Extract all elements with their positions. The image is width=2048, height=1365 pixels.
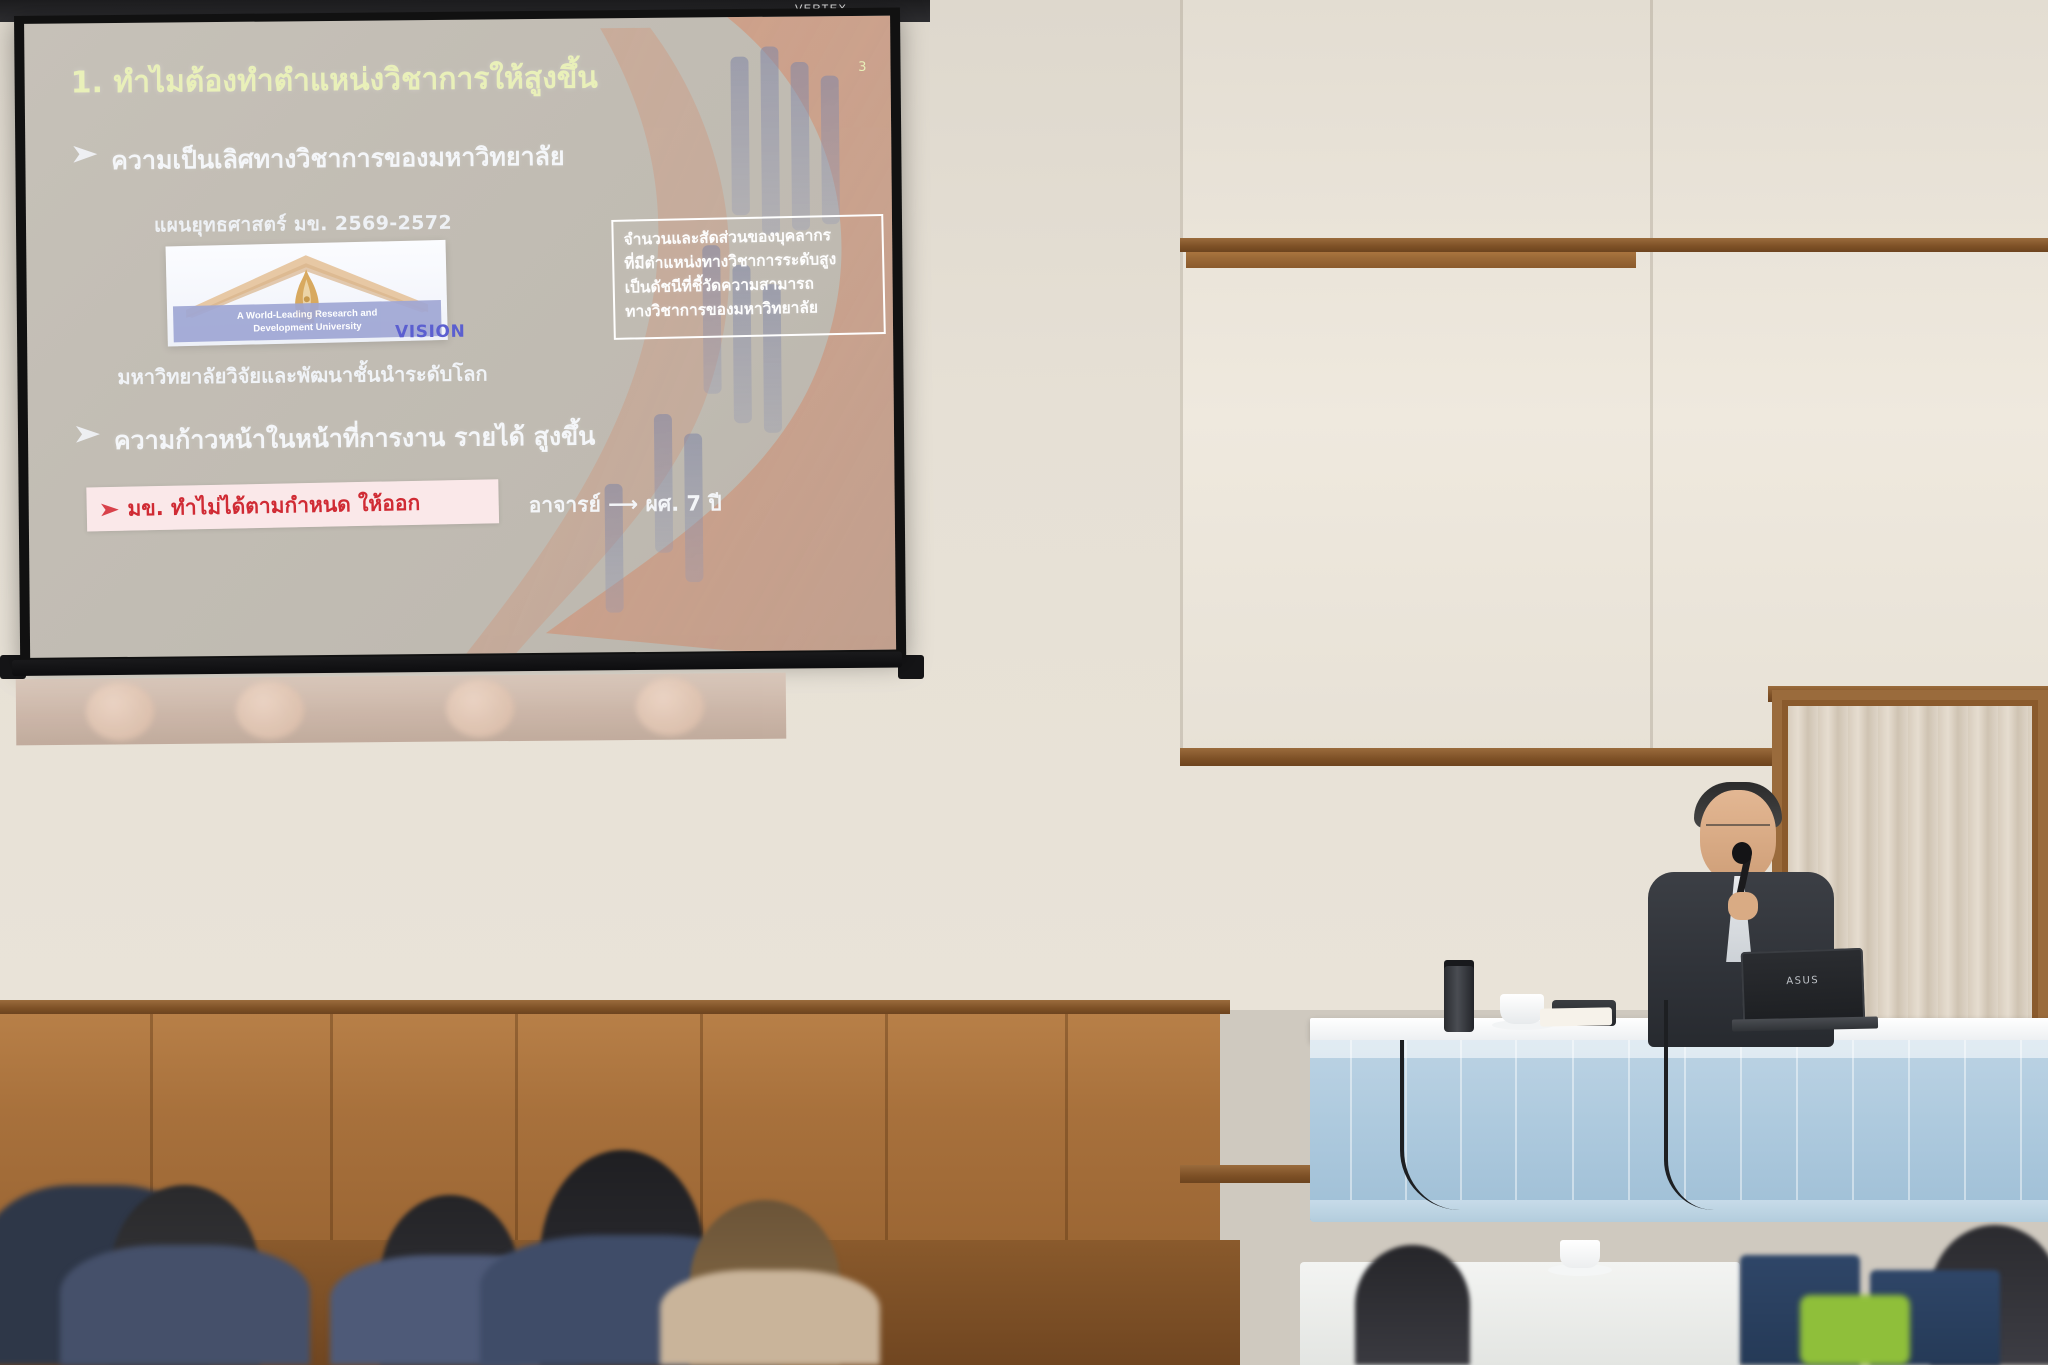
- projection-screen: 1. ทำไมต้องทำตำแหน่งวิชาการให้สูงขึ้น 3 …: [14, 7, 906, 665]
- wall-trim: [1180, 238, 2048, 252]
- audience-bag: [1800, 1295, 1910, 1365]
- presenter-hand: [1728, 892, 1758, 920]
- laptop-brand-label: ASUS: [1786, 975, 1819, 987]
- audience-member: [1355, 1245, 1470, 1365]
- cable: [1664, 1000, 1714, 1210]
- microphone-icon: [1732, 842, 1752, 864]
- info-box-line-4: ทางวิชาการของมหาวิทยาลัย: [625, 294, 873, 323]
- wall-trim: [1186, 252, 1636, 268]
- strategy-plan-label: แผนยุทธศาสตร์ มข. 2569-2572: [154, 208, 452, 241]
- napkin: [1540, 1007, 1612, 1026]
- warning-label: มข. ทำไม่ได้ตามกำหนด ให้ออก: [127, 486, 420, 525]
- presenter-head: [1700, 790, 1776, 882]
- glasses-icon: [1706, 824, 1770, 836]
- bullet-item-1: ➤ ความเป็นเลิศทางวิชาการของมหาวิทยาลัย: [73, 137, 565, 182]
- wall-banner: [16, 673, 787, 746]
- chevron-right-icon: ➤: [72, 421, 102, 447]
- audience-member: [660, 1270, 880, 1365]
- vision-word-label: VISION: [395, 322, 466, 343]
- info-box: จำนวนและสัดส่วนของบุคลากร ที่มีตำแหน่งทา…: [611, 214, 886, 340]
- chevron-right-icon: ➤: [98, 497, 120, 521]
- chevron-right-icon: ➤: [69, 141, 99, 167]
- front-coffee-cup: [1560, 1240, 1600, 1268]
- warning-highlight-box: ➤ มข. ทำไม่ได้ตามกำหนด ให้ออก: [86, 479, 499, 531]
- audience-member: [60, 1245, 310, 1365]
- coffee-cup: [1500, 994, 1544, 1024]
- bullet-item-2: ➤ ความก้าวหน้าในหน้าที่การงาน รายได้ สูง…: [76, 416, 596, 461]
- slide-title: 1. ทำไมต้องทำตำแหน่งวิชาการให้สูงขึ้น: [70, 54, 598, 106]
- speaker-table-hem: [1310, 1200, 2048, 1222]
- right-wall-panel: [1180, 0, 2048, 760]
- promotion-note: อาจารย์ ⟶ ผศ. 7 ปี: [529, 487, 722, 522]
- vision-band-line2: Development University: [253, 320, 362, 336]
- wall-seam: [1650, 0, 1653, 760]
- lecture-hall-scene: VERTEX: [0, 0, 2048, 1365]
- slide-number: 3: [858, 60, 866, 75]
- thermos: [1444, 966, 1474, 1032]
- slide-surface: 1. ทำไมต้องทำตำแหน่งวิชาการให้สูงขึ้น 3 …: [24, 16, 896, 658]
- vision-caption: มหาวิทยาลัยวิจัยและพัฒนาชั้นนำระดับโลก: [117, 357, 487, 393]
- wall-seam: [1180, 0, 1183, 760]
- bullet-label-2: ความก้าวหน้าในหน้าที่การงาน รายได้ สูงขึ…: [114, 416, 596, 461]
- wainscot-cap: [0, 1000, 1230, 1014]
- bullet-label-1: ความเป็นเลิศทางวิชาการของมหาวิทยาลัย: [111, 137, 565, 181]
